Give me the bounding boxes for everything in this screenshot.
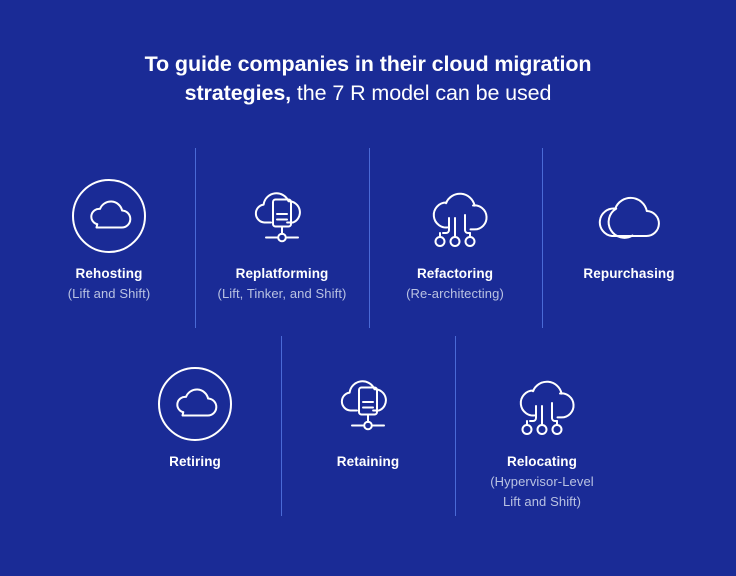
title-line-2: strategies, the 7 R model can be used — [0, 79, 736, 108]
item-label: Rehosting — [24, 264, 194, 284]
item-labels: Refactoring (Re-architecting) — [370, 264, 540, 304]
cloud-in-circle-icon — [24, 170, 194, 262]
item-label: Retiring — [110, 452, 280, 472]
item-labels: Repurchasing — [543, 264, 715, 284]
item-rehosting: Rehosting (Lift and Shift) — [24, 170, 194, 304]
item-labels: Retiring — [110, 452, 280, 472]
cloud-server-node-icon — [196, 170, 368, 262]
item-label: Replatforming — [196, 264, 368, 284]
item-label: Refactoring — [370, 264, 540, 284]
item-repurchasing: Repurchasing — [543, 170, 715, 284]
cloud-branches-icon — [456, 358, 628, 450]
cloud-branches-icon — [370, 170, 540, 262]
item-label: Repurchasing — [543, 264, 715, 284]
page-title: To guide companies in their cloud migrat… — [0, 50, 736, 107]
divider-row2-1 — [281, 336, 282, 516]
item-labels: Rehosting (Lift and Shift) — [24, 264, 194, 304]
title-line-2-normal: the 7 R model can be used — [291, 81, 551, 105]
item-labels: Relocating (Hypervisor-Level Lift and Sh… — [456, 452, 628, 511]
cloud-icon — [543, 170, 715, 262]
item-labels: Replatforming (Lift, Tinker, and Shift) — [196, 264, 368, 304]
item-replatforming: Replatforming (Lift, Tinker, and Shift) — [196, 170, 368, 304]
item-retaining: Retaining — [283, 358, 453, 472]
cloud-server-node-icon — [283, 358, 453, 450]
item-relocating: Relocating (Hypervisor-Level Lift and Sh… — [456, 358, 628, 511]
item-sublabel: (Re-architecting) — [370, 284, 540, 304]
title-line-2-strong: strategies, — [185, 81, 291, 105]
title-line-1-text: To guide companies in their cloud migrat… — [145, 52, 592, 76]
item-sublabel: (Lift and Shift) — [24, 284, 194, 304]
item-refactoring: Refactoring (Re-architecting) — [370, 170, 540, 304]
title-line-1: To guide companies in their cloud migrat… — [0, 50, 736, 79]
item-label: Relocating — [456, 452, 628, 472]
item-sublabel: (Hypervisor-Level — [456, 472, 628, 492]
cloud-in-circle-icon — [110, 358, 280, 450]
item-retiring: Retiring — [110, 358, 280, 472]
item-sublabel: (Lift, Tinker, and Shift) — [196, 284, 368, 304]
item-labels: Retaining — [283, 452, 453, 472]
item-label: Retaining — [283, 452, 453, 472]
item-sublabel-line2: Lift and Shift) — [456, 492, 628, 512]
